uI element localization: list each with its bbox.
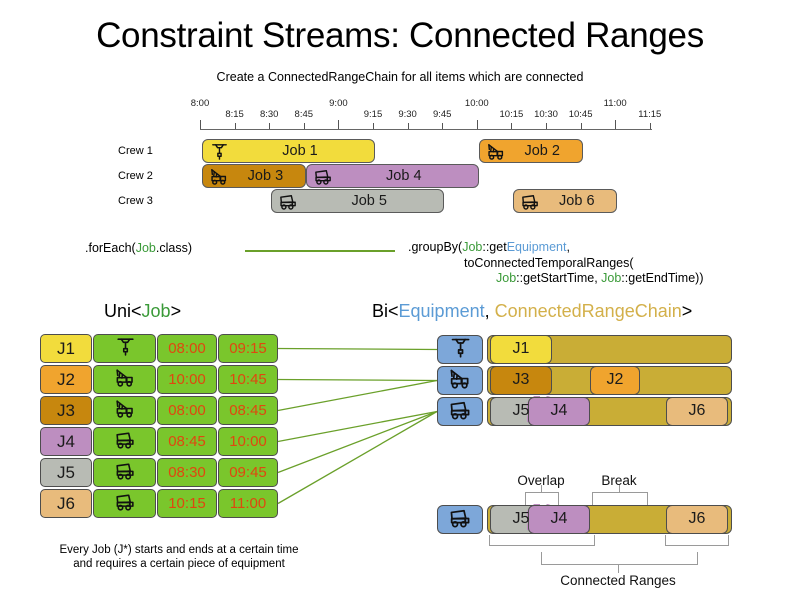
groupby-expression: .groupBy(Job::getEquipment, toConnectedT…	[408, 240, 704, 287]
job-end-cell: 08:45	[218, 396, 278, 425]
groupby-end-getter: ::getEndTime))	[621, 271, 703, 285]
chain-segment[interactable]: J6	[666, 505, 728, 534]
connected-range-chain: J1	[487, 335, 732, 364]
job-id-cell: J4	[40, 427, 92, 456]
uni-header-close: >	[171, 301, 182, 321]
gantt-bar-label: Job 5	[301, 193, 443, 209]
overlap-stem	[541, 485, 542, 493]
gantt-crew-label: Crew 2	[118, 170, 153, 182]
equipment-key-cell	[437, 366, 483, 395]
bi-header-close: >	[682, 301, 693, 321]
chain-segment[interactable]: J6	[666, 397, 728, 426]
job-start-cell: 08:00	[157, 334, 217, 363]
job-end-cell: 10:00	[218, 427, 278, 456]
gantt-crew-label: Crew 1	[118, 145, 153, 157]
chain-segment[interactable]: J2	[590, 366, 640, 395]
chain-segment-label: J5	[513, 510, 530, 528]
connected-ranges-stem	[618, 564, 619, 573]
gantt-crew-label: Crew 3	[118, 195, 153, 207]
dump-truck-icon	[114, 459, 136, 486]
groupby-equipment-ref: Equipment	[507, 240, 567, 254]
groupby-line-3: Job::getStartTime, Job::getEndTime))	[408, 271, 704, 287]
pipeline-connector-line	[245, 250, 395, 252]
uni-header: Uni<Job>	[104, 301, 181, 322]
chain-segment-label: J1	[513, 340, 530, 358]
job-id-cell: J5	[40, 458, 92, 487]
job-id-cell: J1	[40, 334, 92, 363]
footnote-line-1: Every Job (J*) starts and ends at a cert…	[14, 543, 344, 557]
foreach-type: Job	[136, 241, 156, 255]
crane-truck-icon	[206, 166, 232, 186]
bi-header: Bi<Equipment, ConnectedRangeChain>	[372, 301, 692, 322]
uni-header-type: Job	[142, 301, 171, 321]
groupby-getter: ::get	[482, 240, 506, 254]
foreach-expression: .forEach(Job.class)	[85, 241, 192, 255]
groupby-start-getter: ::getStartTime,	[516, 271, 601, 285]
job-end-cell: 09:15	[218, 334, 278, 363]
groupby-comma: ,	[566, 240, 569, 254]
dump-truck-icon	[275, 191, 301, 211]
connected-ranges-bracket	[541, 552, 698, 565]
gantt-bar-label: Job 3	[232, 168, 305, 184]
gantt-bar-label: Job 4	[336, 168, 478, 184]
job-equipment-cell	[93, 334, 156, 363]
job-start-cell: 08:00	[157, 396, 217, 425]
connected-range-chain: J3J2	[487, 366, 732, 395]
groupby-job-ref: Job	[462, 240, 482, 254]
footnote-line-2: and requires a certain piece of equipmen…	[14, 557, 344, 571]
chain-segment[interactable]: J4	[528, 505, 590, 534]
dump-truck-icon	[114, 490, 136, 517]
job-end-cell: 11:00	[218, 489, 278, 518]
gantt-bar-label: Job 1	[232, 143, 374, 159]
gantt-bar[interactable]: Job 1	[202, 139, 375, 163]
range-bracket-left	[489, 535, 595, 546]
dump-truck-icon	[517, 191, 543, 211]
uni-header-open: Uni<	[104, 301, 142, 321]
chain-segment-label: J4	[551, 402, 568, 420]
gantt-bar[interactable]: Job 5	[271, 189, 444, 213]
job-equipment-cell	[93, 427, 156, 456]
job-equipment-cell	[93, 458, 156, 487]
gantt-bar[interactable]: Job 6	[513, 189, 617, 213]
job-id-cell: J2	[40, 365, 92, 394]
job-end-cell: 09:45	[218, 458, 278, 487]
job-end-cell: 10:45	[218, 365, 278, 394]
break-stem	[619, 485, 620, 493]
jackhammer-icon	[448, 335, 472, 364]
chain-segment-label: J4	[551, 510, 568, 528]
bi-header-type-1: Equipment	[399, 301, 485, 321]
groupby-job-ref-3: Job	[601, 271, 621, 285]
jackhammer-icon	[114, 335, 136, 362]
gantt-bar[interactable]: Job 2	[479, 139, 583, 163]
crane-truck-icon	[114, 366, 136, 393]
job-equipment-cell	[93, 489, 156, 518]
job-start-cell: 08:30	[157, 458, 217, 487]
dump-truck-icon	[310, 166, 336, 186]
connected-range-chain: J5J4J6	[487, 505, 732, 534]
chain-segment-label: J6	[689, 510, 706, 528]
crane-truck-icon	[448, 366, 472, 395]
footnote: Every Job (J*) starts and ends at a cert…	[14, 543, 344, 571]
foreach-suffix: .class)	[156, 241, 192, 255]
bi-header-comma: ,	[485, 301, 495, 321]
bi-header-type-2: ConnectedRangeChain	[495, 301, 682, 321]
equipment-key-cell	[437, 505, 483, 534]
break-bracket	[592, 492, 648, 505]
groupby-call: .groupBy(	[408, 240, 462, 254]
job-equipment-cell	[93, 365, 156, 394]
chain-segment-label: J6	[689, 402, 706, 420]
overlap-bracket	[525, 492, 559, 505]
dump-truck-icon	[448, 397, 472, 426]
job-equipment-cell	[93, 396, 156, 425]
job-start-cell: 10:00	[157, 365, 217, 394]
chain-segment[interactable]: J4	[528, 397, 590, 426]
job-start-cell: 08:45	[157, 427, 217, 456]
groupby-line-2: toConnectedTemporalRanges(	[408, 256, 704, 272]
chain-segment-label: J3	[513, 371, 530, 389]
job-id-cell: J3	[40, 396, 92, 425]
connected-range-chain: J5J4J6	[487, 397, 732, 426]
job-id-cell: J6	[40, 489, 92, 518]
dump-truck-icon	[448, 505, 472, 534]
foreach-prefix: .forEach(	[85, 241, 136, 255]
chain-segment-label: J2	[607, 371, 624, 389]
crane-truck-icon	[483, 141, 509, 161]
gantt-chart: Crew 1Crew 2Crew 3Job 1Job 2Job 3Job 4Jo…	[0, 0, 800, 220]
chain-segment-label: J5	[513, 402, 530, 420]
range-bracket-right	[665, 535, 729, 546]
groupby-job-ref-2: Job	[496, 271, 516, 285]
dump-truck-icon	[114, 428, 136, 455]
jackhammer-icon	[206, 141, 232, 161]
chain-segment[interactable]: J1	[490, 335, 552, 364]
gantt-bar[interactable]: Job 3	[202, 164, 306, 188]
job-start-cell: 10:15	[157, 489, 217, 518]
groupby-line-1: .groupBy(Job::getEquipment,	[408, 240, 704, 256]
gantt-bar-label: Job 6	[543, 193, 616, 209]
connected-ranges-label: Connected Ranges	[560, 573, 676, 588]
gantt-bar-label: Job 2	[509, 143, 582, 159]
gantt-bar[interactable]: Job 4	[306, 164, 479, 188]
equipment-key-cell	[437, 335, 483, 364]
crane-truck-icon	[114, 397, 136, 424]
equipment-key-cell	[437, 397, 483, 426]
bi-header-open: Bi<	[372, 301, 399, 321]
chain-segment[interactable]: J3	[490, 366, 552, 395]
